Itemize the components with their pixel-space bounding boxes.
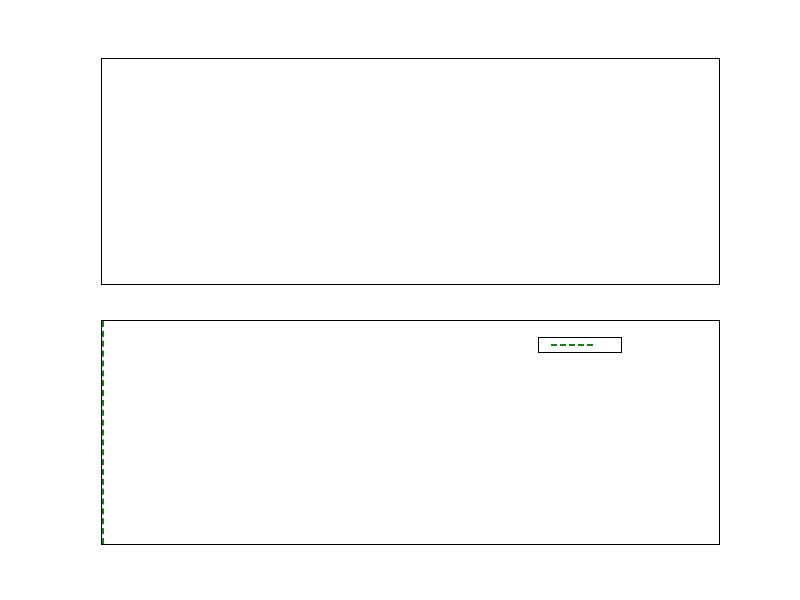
- mag-limit-legend-swatch: [551, 344, 593, 346]
- figure-canvas: [0, 0, 800, 600]
- cumulative-curve: [102, 321, 719, 544]
- top-histogram-axes: [101, 58, 720, 285]
- legend-box: [538, 337, 622, 353]
- histogram-bars-layer: [102, 59, 719, 284]
- cumulative-curve-layer: [102, 321, 719, 544]
- bottom-cumulative-axes: [101, 320, 720, 545]
- mag-limit-line: [102, 321, 104, 544]
